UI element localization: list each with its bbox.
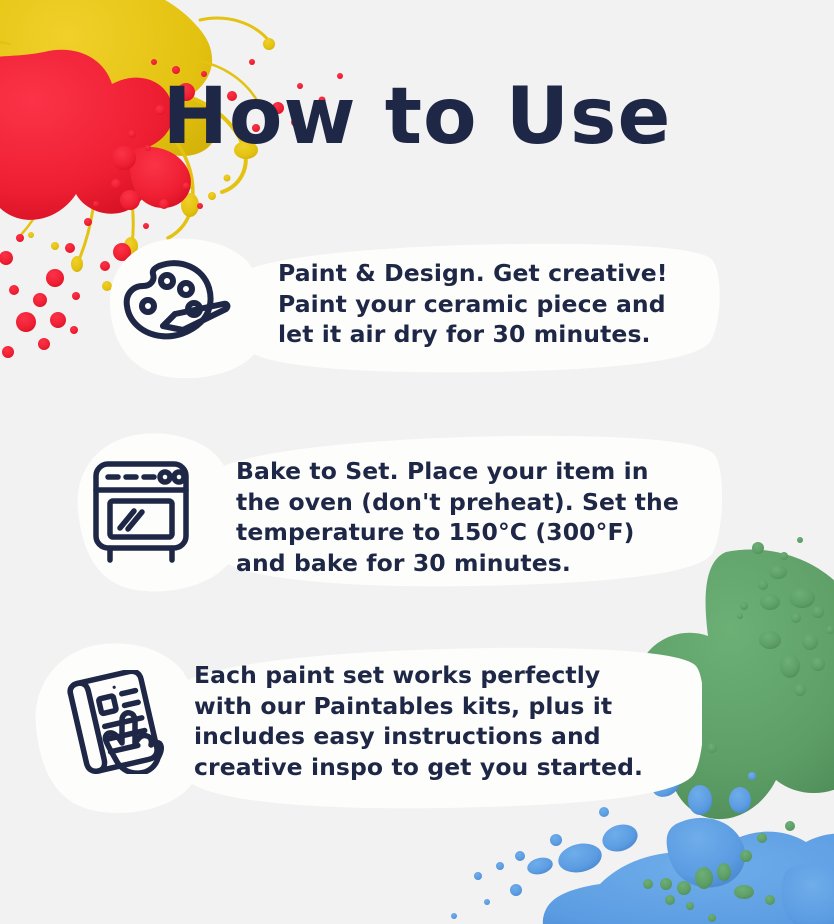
paint-palette-icon <box>119 256 231 352</box>
step-card-3-text: Each paint set works perfectly with our … <box>194 660 664 782</box>
instructions-hand-icon <box>60 670 170 774</box>
step-card-2: Bake to Set. Place your item in the oven… <box>62 424 722 592</box>
page-title: How to Use <box>0 78 834 156</box>
step-card-3: Each paint set works perfectly with our … <box>22 634 702 814</box>
oven-icon <box>86 456 196 564</box>
how-to-use-poster: How to Use Paint & Design. Get creative!… <box>0 0 834 924</box>
step-card-1-text: Paint & Design. Get creative! Paint your… <box>278 258 698 350</box>
step-card-2-text: Bake to Set. Place your item in the oven… <box>236 456 686 578</box>
step-card-1: Paint & Design. Get creative! Paint your… <box>92 232 724 378</box>
